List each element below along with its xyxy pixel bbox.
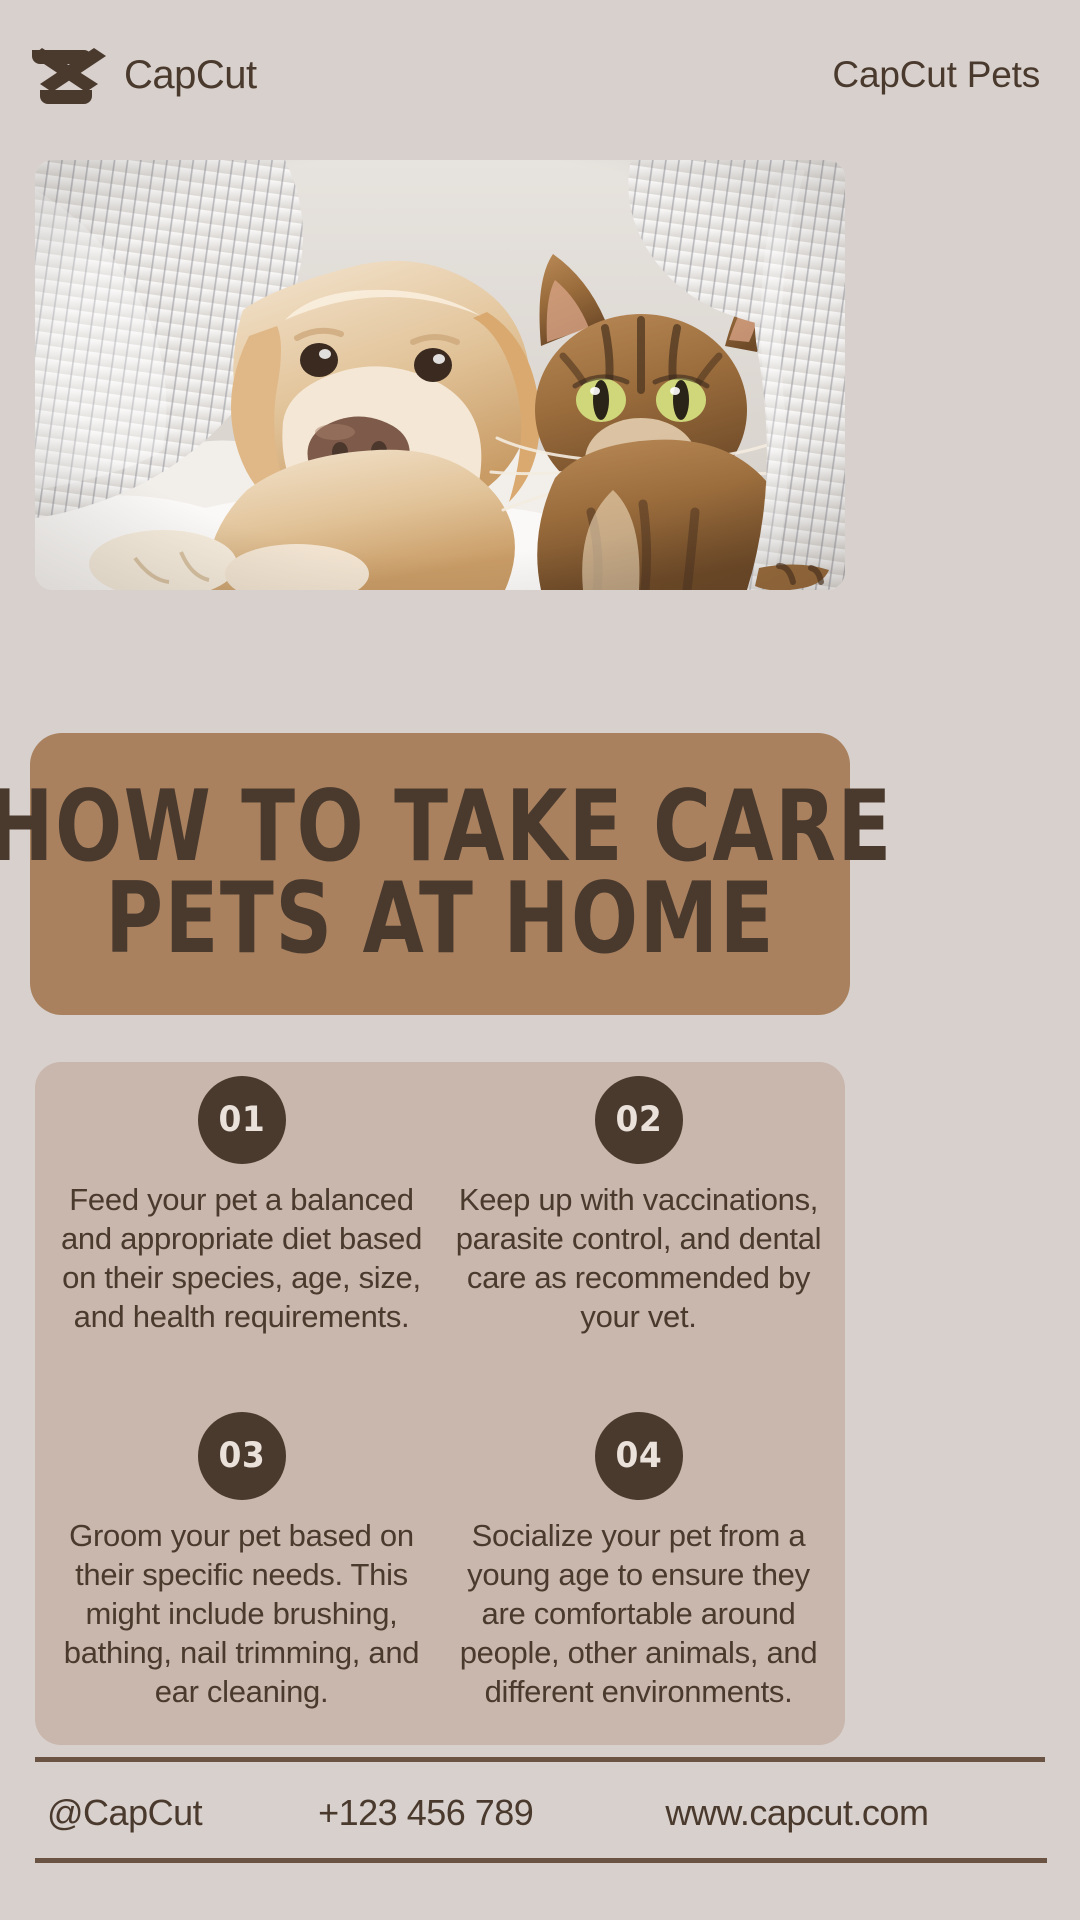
tip-number-badge-04: 04 xyxy=(595,1412,683,1500)
tip-number-badge-01: 01 xyxy=(198,1076,286,1164)
tip-number-01: 01 xyxy=(218,1100,265,1140)
footer-divider-bottom xyxy=(35,1858,1047,1863)
brand: CapCut xyxy=(32,46,257,104)
footer: @CapCut +123 456 789 www.capcut.com xyxy=(35,1782,1045,1844)
tip-text-03: Groom your pet based on their specific n… xyxy=(53,1516,430,1711)
capcut-logo-icon xyxy=(32,46,106,104)
tip-number-badge-03: 03 xyxy=(198,1412,286,1500)
title-banner: HOW TO TAKE CARE PETS AT HOME xyxy=(30,733,850,1015)
tip-item-01: 01 Feed your pet a balanced and appropri… xyxy=(35,1062,440,1404)
title-line-2: PETS AT HOME xyxy=(105,870,775,970)
brand-name: CapCut xyxy=(124,53,257,98)
tip-number-04: 04 xyxy=(615,1436,662,1476)
tip-number-02: 02 xyxy=(615,1100,662,1140)
tip-text-02: Keep up with vaccinations, parasite cont… xyxy=(450,1180,827,1336)
tip-text-01: Feed your pet a balanced and appropriate… xyxy=(53,1180,430,1336)
footer-phone[interactable]: +123 456 789 xyxy=(318,1792,533,1834)
tip-item-03: 03 Groom your pet based on their specifi… xyxy=(35,1404,440,1746)
infographic-poster: CapCut CapCut Pets xyxy=(0,0,1080,1920)
header-right-label: CapCut Pets xyxy=(832,54,1040,96)
tip-number-03: 03 xyxy=(218,1436,265,1476)
footer-website[interactable]: www.capcut.com xyxy=(665,1792,928,1834)
tips-card: 01 Feed your pet a balanced and appropri… xyxy=(35,1062,845,1745)
header: CapCut CapCut Pets xyxy=(0,0,1080,150)
hero-photo xyxy=(35,160,845,590)
footer-divider-top xyxy=(35,1757,1045,1762)
tip-text-04: Socialize your pet from a young age to e… xyxy=(450,1516,827,1711)
tip-number-badge-02: 02 xyxy=(595,1076,683,1164)
footer-handle[interactable]: @CapCut xyxy=(47,1792,202,1834)
tip-item-02: 02 Keep up with vaccinations, parasite c… xyxy=(440,1062,845,1404)
tip-item-04: 04 Socialize your pet from a young age t… xyxy=(440,1404,845,1746)
